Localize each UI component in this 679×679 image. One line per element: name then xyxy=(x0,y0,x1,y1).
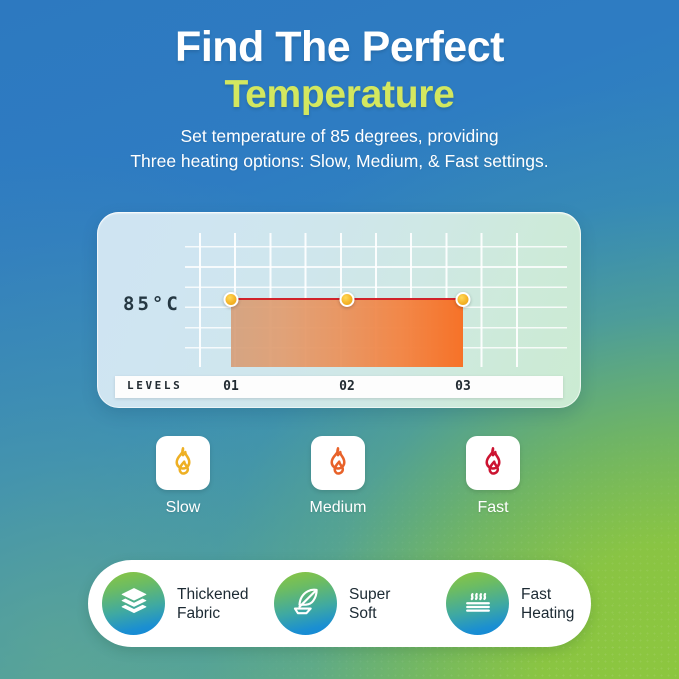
level-tick-label: 03 xyxy=(455,379,471,394)
heating-option-fast[interactable]: Fast xyxy=(433,436,553,517)
page-content: Find The Perfect Temperature Set tempera… xyxy=(0,0,679,679)
flame-icon xyxy=(322,445,354,482)
headline-line-2: Temperature xyxy=(0,72,679,118)
feature-icon-circle xyxy=(446,572,509,635)
temperature-chart-panel: 85°C LEVELS 01 02 03 xyxy=(97,212,581,408)
chart-data-point[interactable] xyxy=(456,292,471,307)
chart-data-point[interactable] xyxy=(224,292,239,307)
heating-option-slow[interactable]: Slow xyxy=(123,436,243,517)
chart-area-fill xyxy=(231,299,463,367)
feature-label: Super Soft xyxy=(349,585,390,623)
feature-label: Thickened Fabric xyxy=(177,585,249,623)
heat-waves-icon xyxy=(461,584,495,623)
heating-option-label: Fast xyxy=(433,499,553,517)
feather-icon xyxy=(289,584,323,623)
layers-icon xyxy=(117,584,151,623)
chart-plot-area xyxy=(199,233,551,367)
heating-option-medium[interactable]: Medium xyxy=(278,436,398,517)
heating-options-row: Slow Medium xyxy=(97,436,581,528)
levels-axis-bar: LEVELS 01 02 03 xyxy=(115,376,563,398)
subtitle-block: Set temperature of 85 degrees, providing… xyxy=(0,124,679,174)
feature-bar: Thickened Fabric Super Soft xyxy=(88,560,591,647)
heating-option-tile[interactable] xyxy=(156,436,210,490)
heating-option-tile[interactable] xyxy=(466,436,520,490)
y-axis-value-label: 85°C xyxy=(123,293,181,315)
chart-data-point[interactable] xyxy=(340,292,355,307)
heating-option-label: Medium xyxy=(278,499,398,517)
heating-option-label: Slow xyxy=(123,499,243,517)
headline-line-1: Find The Perfect xyxy=(0,22,679,72)
levels-axis-title: LEVELS xyxy=(127,379,182,392)
level-tick-label: 02 xyxy=(339,379,355,394)
subtitle-line-1: Set temperature of 85 degrees, providing xyxy=(0,124,679,149)
feature-icon-circle xyxy=(274,572,337,635)
subtitle-line-2: Three heating options: Slow, Medium, & F… xyxy=(0,149,679,174)
feature-fast-heating[interactable]: Fast Heating xyxy=(446,572,574,635)
feature-label: Fast Heating xyxy=(521,585,574,623)
feature-icon-circle xyxy=(102,572,165,635)
heating-option-tile[interactable] xyxy=(311,436,365,490)
feature-thickened-fabric[interactable]: Thickened Fabric xyxy=(102,572,249,635)
headline-block: Find The Perfect Temperature xyxy=(0,22,679,118)
feature-super-soft[interactable]: Super Soft xyxy=(274,572,390,635)
level-tick-label: 01 xyxy=(223,379,239,394)
flame-icon xyxy=(477,445,509,482)
flame-icon xyxy=(167,445,199,482)
